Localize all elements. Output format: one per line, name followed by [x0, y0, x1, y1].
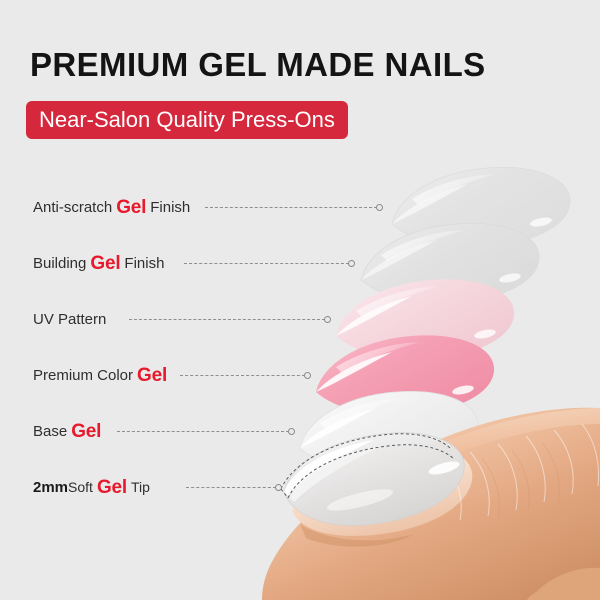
subtitle-badge-label: Near-Salon Quality Press-Ons — [39, 109, 335, 131]
leader-line-building-gel-finish — [184, 252, 355, 274]
page-title: PREMIUM GEL MADE NAILS — [30, 48, 486, 81]
callout-label-part: UV Pattern — [33, 312, 106, 327]
callout-label-part: Premium Color — [33, 368, 133, 383]
callout-label-thickness: 2mm — [33, 480, 68, 495]
callout-label-gel: Gel — [67, 422, 105, 441]
callout-building-gel-finish: Building Gel Finish — [33, 252, 164, 274]
callout-base-gel: Base Gel — [33, 420, 105, 442]
nail-layers-illustration — [0, 0, 600, 600]
leader-dash — [129, 319, 325, 320]
leader-endpoint-dot — [348, 260, 355, 267]
leader-endpoint-dot — [376, 204, 383, 211]
callout-soft-gel-tip: 2mm Soft Gel Tip — [33, 476, 150, 498]
leader-dash — [205, 207, 377, 208]
leader-dash — [184, 263, 349, 264]
leader-line-premium-color-gel — [180, 364, 311, 386]
callout-label-part: Finish — [150, 200, 190, 215]
leader-endpoint-dot — [288, 428, 295, 435]
callout-label-gel: Gel — [133, 366, 171, 385]
callout-label-part: Anti-scratch — [33, 200, 112, 215]
callout-label-part: Building — [33, 256, 86, 271]
leader-line-soft-gel-tip — [186, 476, 282, 498]
leader-dash — [186, 487, 276, 488]
callout-uv-pattern: UV Pattern — [33, 308, 106, 330]
callout-premium-color-gel: Premium Color Gel — [33, 364, 171, 386]
leader-line-anti-scratch-gel-finish — [205, 196, 383, 218]
leader-line-base-gel — [117, 420, 295, 442]
callout-label-gel: Gel — [112, 198, 150, 217]
callout-label-part: Finish — [124, 256, 164, 271]
callout-label-gel: Gel — [86, 254, 124, 273]
callout-label-part: Base — [33, 424, 67, 439]
leader-endpoint-dot — [304, 372, 311, 379]
infographic-canvas: PREMIUM GEL MADE NAILS Near-Salon Qualit… — [0, 0, 600, 600]
callout-label-gel: Gel — [93, 478, 131, 497]
leader-dash — [117, 431, 289, 432]
leader-line-uv-pattern — [129, 308, 331, 330]
leader-endpoint-dot — [324, 316, 331, 323]
callout-anti-scratch-gel-finish: Anti-scratch Gel Finish — [33, 196, 190, 218]
leader-dash — [180, 375, 305, 376]
subtitle-badge: Near-Salon Quality Press-Ons — [26, 101, 348, 139]
leader-endpoint-dot — [275, 484, 282, 491]
callout-label-part: Tip — [131, 480, 150, 494]
callout-label-part: Soft — [68, 480, 93, 494]
